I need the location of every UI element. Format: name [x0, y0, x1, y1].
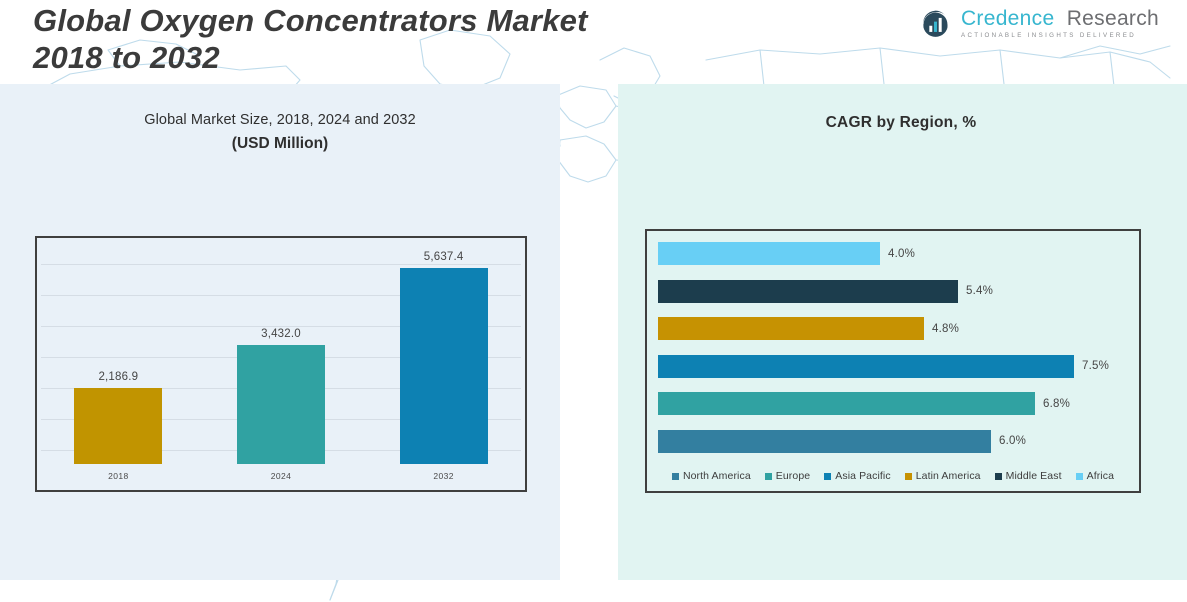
bar-value-label: 4.8% — [932, 323, 959, 335]
bar-value-label: 4.0% — [888, 248, 915, 260]
bar[interactable] — [658, 355, 1074, 378]
legend-item[interactable]: Africa — [1076, 470, 1114, 482]
logo-wordmark: Credence Research — [961, 8, 1159, 29]
bar[interactable] — [658, 317, 924, 340]
legend-swatch — [824, 473, 831, 480]
bar-value-label: 7.5% — [1082, 360, 1109, 372]
bar-value-label: 6.0% — [999, 435, 1026, 447]
bar[interactable] — [658, 430, 991, 453]
legend-item[interactable]: Asia Pacific — [824, 470, 890, 482]
legend-label: Africa — [1087, 470, 1114, 482]
legend-item[interactable]: Middle East — [995, 470, 1062, 482]
left-chart-title-units: (USD Million) — [40, 135, 520, 153]
header: Global Oxygen Concentrators Market 2018 … — [0, 0, 1187, 84]
left-chart-title-line1: Global Market Size, 2018, 2024 and 2032 — [40, 112, 520, 128]
bar[interactable] — [237, 345, 325, 464]
market-size-bar-chart: 2,186.93,432.05,637.4 201820242032 — [35, 236, 527, 492]
logo-text-block: Credence Research Actionable Insights De… — [961, 8, 1159, 39]
horizontal-bars-area: 4.0%5.4%4.8%7.5%6.8%6.0% — [658, 242, 1131, 453]
page-title: Global Oxygen Concentrators Market 2018 … — [33, 2, 793, 76]
bar-row: 6.0% — [658, 430, 1131, 453]
cagr-by-region-bar-chart: 4.0%5.4%4.8%7.5%6.8%6.0% North AmericaEu… — [645, 229, 1141, 493]
legend-swatch — [765, 473, 772, 480]
legend-label: North America — [683, 470, 751, 482]
bar-row: 7.5% — [658, 355, 1131, 378]
bar-group: 2,186.9 — [37, 242, 200, 464]
bar[interactable] — [658, 280, 958, 303]
bar-row: 6.8% — [658, 392, 1131, 415]
bar-row: 4.8% — [658, 317, 1131, 340]
legend-item[interactable]: Europe — [765, 470, 810, 482]
left-chart-title: Global Market Size, 2018, 2024 and 2032 … — [40, 112, 520, 153]
logo-word-research: Research — [1067, 7, 1159, 30]
bar-value-label: 5.4% — [966, 285, 993, 297]
vertical-bars-area: 2,186.93,432.05,637.4 — [37, 242, 525, 464]
bar-value-label: 2,186.9 — [98, 371, 138, 383]
bar[interactable] — [400, 268, 488, 464]
bar-value-label: 5,637.4 — [424, 251, 464, 263]
x-axis-labels: 201820242032 — [37, 466, 525, 486]
legend-swatch — [905, 473, 912, 480]
legend-swatch — [672, 473, 679, 480]
bar-group: 5,637.4 — [362, 242, 525, 464]
legend-item[interactable]: Latin America — [905, 470, 981, 482]
legend-swatch — [995, 473, 1002, 480]
credence-research-logo-icon — [919, 8, 952, 41]
bar[interactable] — [74, 388, 162, 464]
chart-legend: North AmericaEuropeAsia PacificLatin Ame… — [647, 470, 1139, 482]
bar-value-label: 6.8% — [1043, 398, 1070, 410]
x-axis-tick-label: 2032 — [362, 471, 525, 481]
bar-value-label: 3,432.0 — [261, 328, 301, 340]
legend-label: Europe — [776, 470, 810, 482]
bar[interactable] — [658, 242, 880, 265]
bar-row: 4.0% — [658, 242, 1131, 265]
legend-item[interactable]: North America — [672, 470, 751, 482]
bar[interactable] — [658, 392, 1035, 415]
bar-row: 5.4% — [658, 280, 1131, 303]
x-axis-tick-label: 2018 — [37, 471, 200, 481]
legend-swatch — [1076, 473, 1083, 480]
right-chart-title: CAGR by Region, % — [645, 114, 1157, 132]
legend-label: Asia Pacific — [835, 470, 890, 482]
logo-tagline: Actionable Insights Delivered — [961, 33, 1159, 39]
x-axis-tick-label: 2024 — [200, 471, 363, 481]
bar-group: 3,432.0 — [200, 242, 363, 464]
logo-word-credence: Credence — [961, 7, 1054, 30]
legend-label: Middle East — [1006, 470, 1062, 482]
brand-logo: Credence Research Actionable Insights De… — [919, 4, 1159, 44]
legend-label: Latin America — [916, 470, 981, 482]
